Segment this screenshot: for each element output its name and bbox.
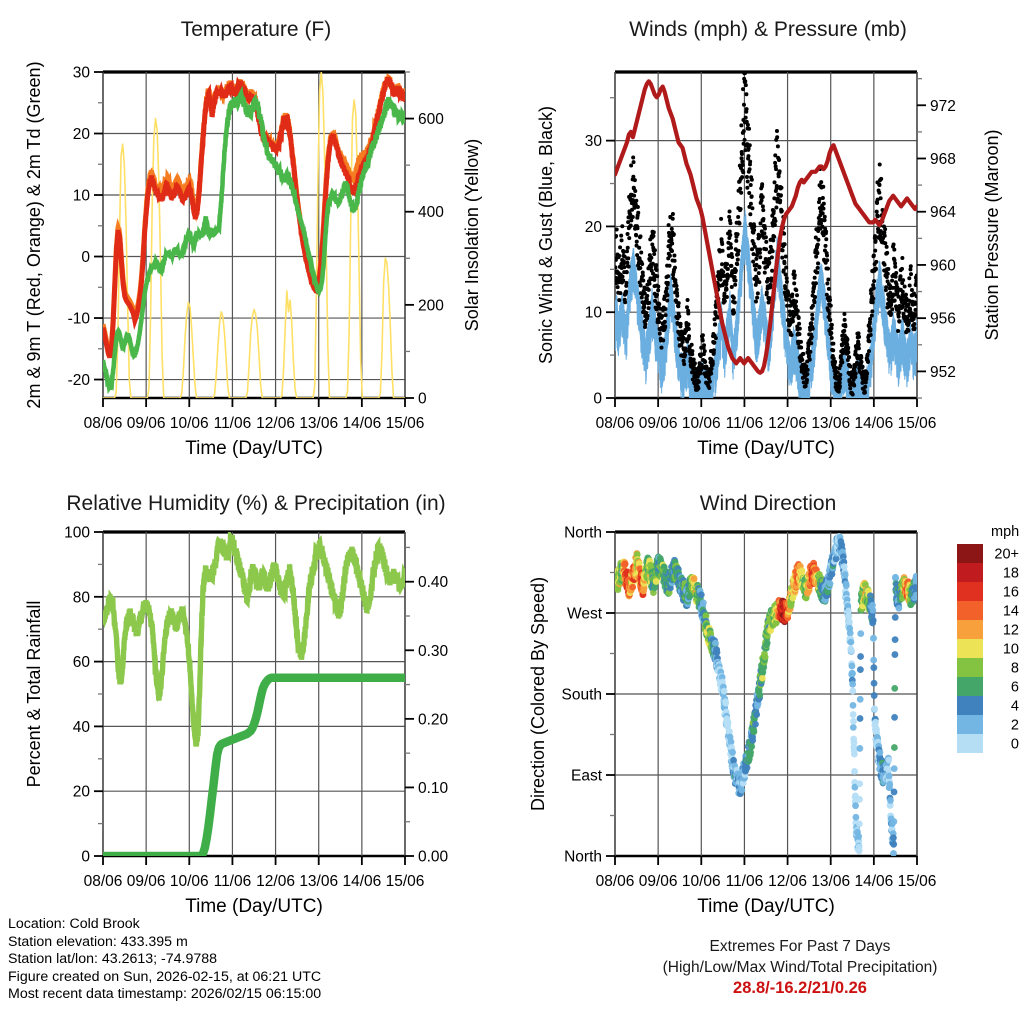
svg-text:20+: 20+ [994,547,1019,563]
svg-text:11/06: 11/06 [726,873,764,890]
footer-line-timestamp: Most recent data timestamp: 2026/02/15 0… [8,986,321,1004]
panel-humidity: Relative Humidity (%) & Precipitation (i… [0,488,512,928]
svg-text:0: 0 [1011,737,1019,753]
svg-text:30: 30 [73,65,91,82]
svg-text:15/06: 15/06 [386,415,425,432]
svg-text:10/06: 10/06 [682,415,721,432]
svg-text:6: 6 [1011,680,1019,696]
svg-text:Time (Day/UTC): Time (Day/UTC) [697,896,835,917]
svg-text:09/06: 09/06 [127,873,166,890]
svg-text:08/06: 08/06 [84,873,123,890]
svg-text:972: 972 [930,98,956,115]
svg-text:Percent & Total Rainfall: Percent & Total Rainfall [24,601,44,788]
svg-text:8: 8 [1011,661,1019,677]
extremes-heading: Extremes For Past 7 Days [600,936,1000,957]
svg-text:-20: -20 [68,372,91,389]
svg-text:20: 20 [73,126,91,143]
footer-line-location: Location: Cold Brook [8,916,321,934]
svg-text:10/06: 10/06 [170,873,209,890]
panel-temperature-title: Temperature (F) [0,18,512,42]
svg-text:0: 0 [81,849,90,866]
svg-text:11/06: 11/06 [214,415,252,432]
svg-text:20: 20 [585,219,603,236]
svg-text:16: 16 [1003,585,1019,601]
panel-winds: Winds (mph) & Pressure (mb) 08/0609/0610… [512,8,1024,468]
svg-text:08/06: 08/06 [596,415,635,432]
svg-text:100: 100 [64,525,90,542]
svg-text:14/06: 14/06 [854,873,893,890]
svg-text:968: 968 [930,151,956,168]
svg-text:Direction (Colored By Speed): Direction (Colored By Speed) [528,577,548,811]
svg-text:Sonic Wind & Gust (Blue, Black: Sonic Wind & Gust (Blue, Black) [536,106,556,364]
svg-text:4: 4 [1011,699,1019,715]
svg-text:400: 400 [418,204,444,221]
svg-text:10/06: 10/06 [170,415,209,432]
svg-text:Station Pressure (Maroon): Station Pressure (Maroon) [982,129,1002,340]
footer-line-elevation: Station elevation: 433.395 m [8,934,321,952]
svg-text:12/06: 12/06 [256,873,295,890]
svg-text:80: 80 [73,589,91,606]
weather-dashboard: Temperature (F) 08/0609/0610/0611/0612/0… [0,0,1024,1024]
svg-text:15/06: 15/06 [898,415,937,432]
panel-humidity-title: Relative Humidity (%) & Precipitation (i… [0,492,512,516]
svg-text:14/06: 14/06 [342,415,381,432]
svg-text:20: 20 [73,784,91,801]
footer-line-latlon: Station lat/lon: 43.2613; -74.9788 [8,951,321,969]
svg-text:0.10: 0.10 [418,780,449,797]
svg-text:0.40: 0.40 [418,574,449,591]
svg-text:10: 10 [1003,642,1019,658]
svg-text:Time (Day/UTC): Time (Day/UTC) [697,438,835,459]
extremes-block: Extremes For Past 7 Days (High/Low/Max W… [600,936,1000,999]
panel-temperature: Temperature (F) 08/0609/0610/0611/0612/0… [0,8,512,468]
svg-text:-10: -10 [68,311,91,328]
svg-text:Time (Day/UTC): Time (Day/UTC) [185,438,323,459]
svg-text:12: 12 [1003,623,1019,639]
svg-text:08/06: 08/06 [84,415,123,432]
svg-text:0: 0 [593,391,602,408]
svg-text:40: 40 [73,719,91,736]
panel-winds-title: Winds (mph) & Pressure (mb) [512,18,1024,42]
svg-text:09/06: 09/06 [127,415,166,432]
extremes-subheading: (High/Low/Max Wind/Total Precipitation) [600,957,1000,978]
svg-text:2: 2 [1011,718,1019,734]
svg-text:09/06: 09/06 [639,415,678,432]
svg-text:10: 10 [585,305,603,322]
svg-text:13/06: 13/06 [299,873,338,890]
winddir-chart[interactable]: 08/0609/0610/0611/0612/0613/0614/0615/06… [512,488,1024,928]
svg-text:0.00: 0.00 [418,849,449,866]
svg-text:2m & 9m T (Red, Orange) & 2m T: 2m & 9m T (Red, Orange) & 2m Td (Green) [24,61,44,408]
svg-text:12/06: 12/06 [768,415,807,432]
svg-text:13/06: 13/06 [811,873,850,890]
svg-text:0.30: 0.30 [418,643,449,660]
svg-text:North: North [564,849,602,866]
svg-text:Time (Day/UTC): Time (Day/UTC) [185,896,323,917]
svg-text:12/06: 12/06 [768,873,807,890]
svg-text:952: 952 [930,364,956,381]
svg-text:14/06: 14/06 [342,873,381,890]
panel-winddir: Wind Direction 08/0609/0610/0611/0612/06… [512,488,1024,928]
panel-winddir-title: Wind Direction [512,492,1024,516]
svg-text:956: 956 [930,311,956,328]
svg-text:West: West [567,606,603,623]
svg-text:13/06: 13/06 [299,415,338,432]
svg-text:15/06: 15/06 [386,873,425,890]
svg-text:0: 0 [81,249,90,266]
svg-text:North: North [564,525,602,542]
svg-text:14: 14 [1003,604,1019,620]
footer-line-created: Figure created on Sun, 2026-02-15, at 06… [8,969,321,987]
station-metadata: Location: Cold Brook Station elevation: … [8,916,321,1004]
svg-text:09/06: 09/06 [639,873,678,890]
svg-text:0: 0 [418,391,427,408]
extremes-values: 28.8/-16.2/21/0.26 [600,978,1000,999]
svg-text:mph: mph [991,524,1019,540]
svg-text:11/06: 11/06 [726,415,764,432]
svg-text:960: 960 [930,257,956,274]
svg-text:0.20: 0.20 [418,711,449,728]
svg-text:964: 964 [930,204,956,221]
svg-text:18: 18 [1003,566,1019,582]
svg-text:South: South [561,687,602,704]
svg-text:East: East [571,768,603,785]
svg-text:12/06: 12/06 [256,415,295,432]
humidity-chart[interactable]: 08/0609/0610/0611/0612/0613/0614/0615/06… [0,488,512,928]
svg-text:14/06: 14/06 [854,415,893,432]
svg-text:30: 30 [585,133,603,150]
svg-text:Solar Insolation (Yellow): Solar Insolation (Yellow) [462,139,482,331]
svg-text:13/06: 13/06 [811,415,850,432]
svg-text:600: 600 [418,111,444,128]
svg-text:08/06: 08/06 [596,873,635,890]
svg-text:10/06: 10/06 [682,873,721,890]
svg-text:11/06: 11/06 [214,873,252,890]
svg-text:60: 60 [73,654,91,671]
svg-text:10: 10 [73,188,91,205]
svg-text:15/06: 15/06 [898,873,937,890]
winds-chart[interactable]: 08/0609/0610/0611/0612/0613/0614/0615/06… [512,8,1024,468]
temperature-chart[interactable]: 08/0609/0610/0611/0612/0613/0614/0615/06… [0,8,512,468]
svg-text:200: 200 [418,297,444,314]
